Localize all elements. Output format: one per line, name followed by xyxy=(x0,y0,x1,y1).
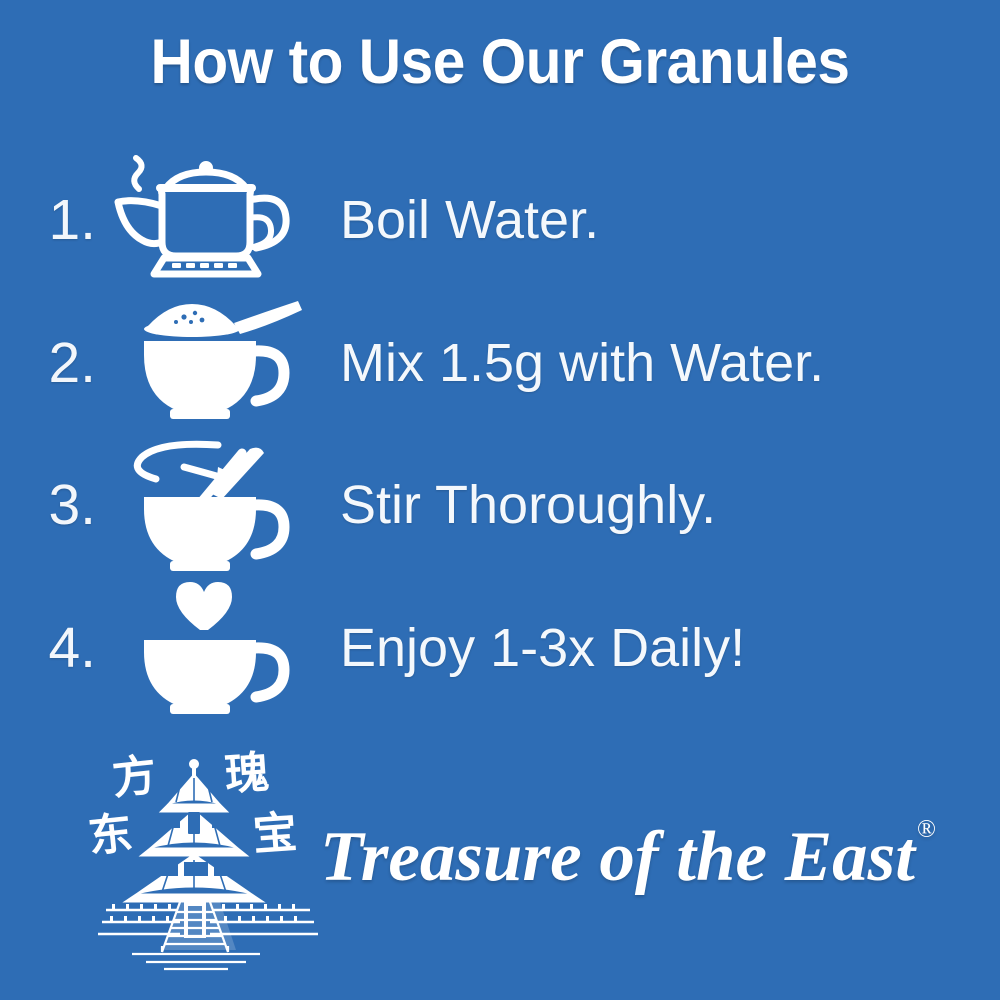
step-label: Stir Thoroughly. xyxy=(330,477,1000,534)
list-item: 3. xyxy=(0,435,1000,575)
step-label: Boil Water. xyxy=(330,192,1000,249)
list-item: 4. Enjoy 1-3x Daily! xyxy=(0,578,1000,718)
registered-trademark-icon: ® xyxy=(917,816,936,843)
step-number: 2. xyxy=(0,335,100,392)
brand-name-text: Treasure of the East xyxy=(320,818,915,896)
step-label: Enjoy 1-3x Daily! xyxy=(330,620,1000,677)
logo-character-dong: 东 xyxy=(88,808,135,863)
brand-name: Treasure of the East® xyxy=(320,822,934,893)
cup-with-spoon-of-granules-icon xyxy=(100,293,330,433)
page-title: How to Use Our Granules xyxy=(35,26,965,98)
temple-of-heaven-logo: 方 瑰 东 宝 xyxy=(88,742,328,972)
step-number: 3. xyxy=(0,477,100,534)
cup-with-heart-icon xyxy=(100,578,330,718)
logo-character-fang: 方 xyxy=(110,750,159,805)
cup-with-stirring-spoon-icon xyxy=(100,435,330,575)
steps-list: 1. xyxy=(0,150,1000,720)
brand-footer: 方 瑰 东 宝 xyxy=(0,742,1000,992)
step-number: 4. xyxy=(0,620,100,677)
poster-root: How to Use Our Granules 1. xyxy=(0,0,1000,1000)
logo-character-gui: 瑰 xyxy=(223,747,270,801)
list-item: 1. xyxy=(0,150,1000,290)
teapot-icon xyxy=(100,150,330,290)
logo-character-bao: 宝 xyxy=(251,807,298,861)
step-label: Mix 1.5g with Water. xyxy=(330,335,1000,392)
list-item: 2. xyxy=(0,293,1000,433)
step-number: 1. xyxy=(0,192,100,249)
